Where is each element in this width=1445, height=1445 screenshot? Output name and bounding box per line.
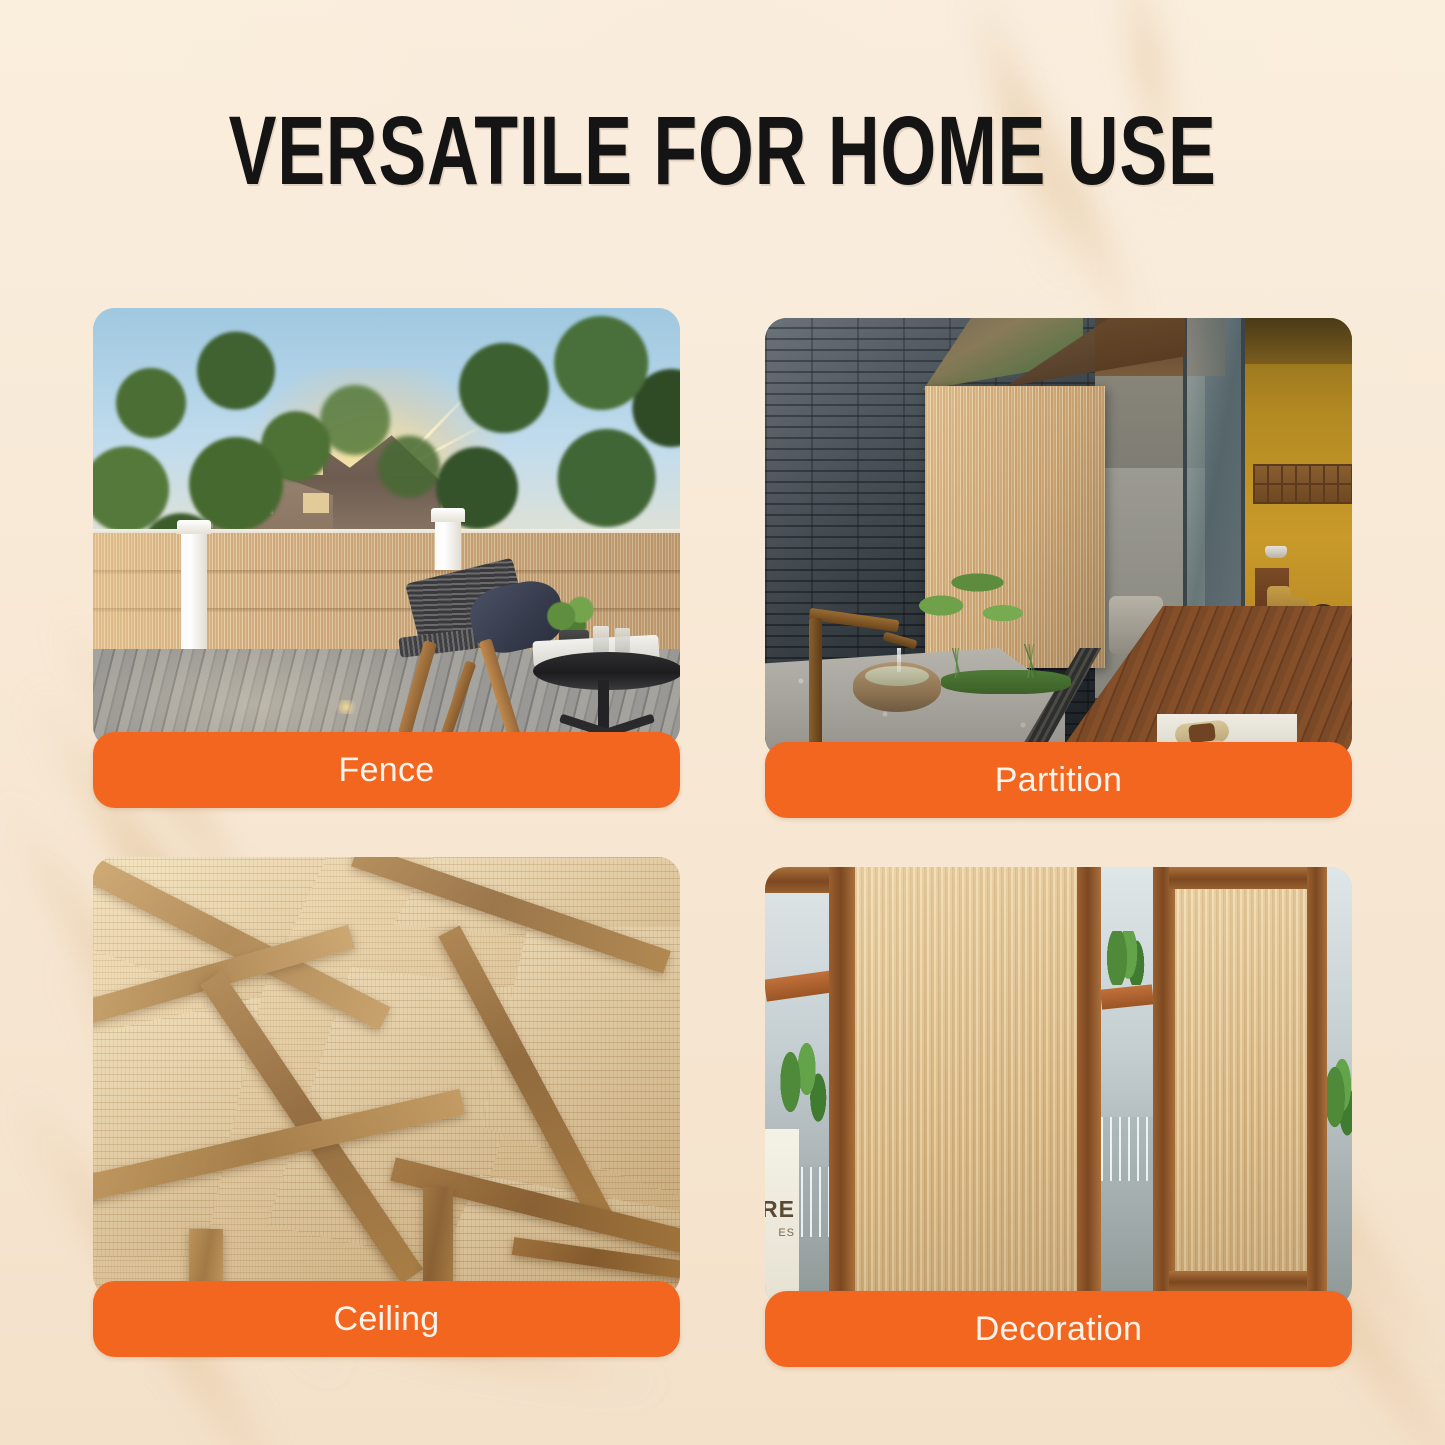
photo-partition <box>765 318 1352 758</box>
card-fence[interactable]: Fence <box>93 308 680 748</box>
page-title: VERSATILE FOR HOME USE <box>0 102 1445 199</box>
photo-decoration: RE ES <box>765 867 1352 1307</box>
card-ceiling[interactable]: Ceiling <box>93 857 680 1297</box>
label-partition[interactable]: Partition <box>765 742 1352 818</box>
label-decoration[interactable]: Decoration <box>765 1291 1352 1367</box>
label-ceiling[interactable]: Ceiling <box>93 1281 680 1357</box>
label-ceiling-text: Ceiling <box>333 1300 439 1339</box>
photo-ceiling <box>93 857 680 1297</box>
label-fence[interactable]: Fence <box>93 732 680 808</box>
page-title-text: VERSATILE FOR HOME USE <box>228 102 1216 199</box>
decoration-sign: RE ES <box>765 1129 799 1307</box>
photo-fence <box>93 308 680 748</box>
card-partition[interactable]: Partition <box>765 318 1352 758</box>
label-partition-text: Partition <box>995 761 1122 800</box>
label-decoration-text: Decoration <box>975 1310 1142 1349</box>
decoration-sign-line1: RE <box>765 1198 795 1221</box>
card-decoration[interactable]: RE ES Decoration <box>765 867 1352 1307</box>
infographic-page: VERSATILE FOR HOME USE <box>0 0 1445 1445</box>
label-fence-text: Fence <box>339 751 435 790</box>
decoration-sign-line2: ES <box>778 1227 795 1239</box>
